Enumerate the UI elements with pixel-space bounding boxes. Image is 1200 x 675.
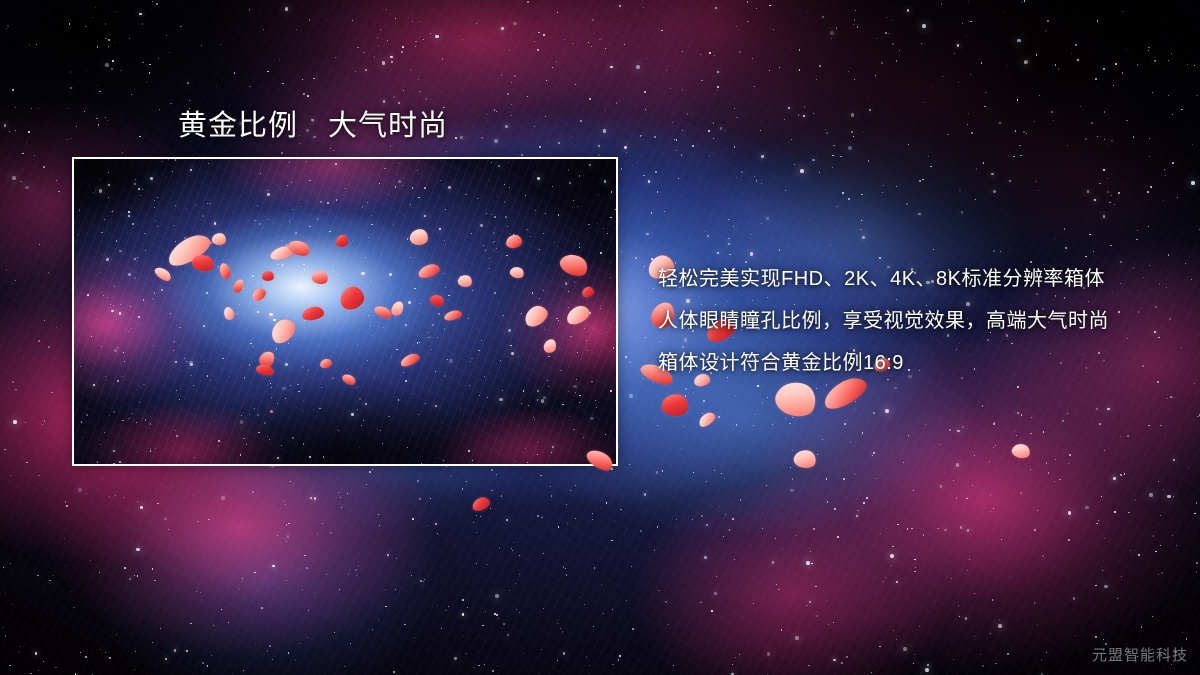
body-copy: 轻松完美实现FHD、2K、4K、8K标准分辨率箱体 人体眼睛瞳孔比例，享受视觉效… (658, 258, 1136, 384)
petal (696, 410, 717, 429)
body-line-3: 箱体设计符合黄金比例16:9 (658, 342, 1136, 384)
panel-image (74, 159, 616, 464)
petal (792, 448, 818, 471)
slide-canvas: 黄金比例 大气时尚 轻松完美实现FHD、2K、4K、8K标准分辨率箱体 人体眼睛… (0, 0, 1200, 675)
petal (1010, 442, 1031, 461)
framed-preview-panel[interactable] (72, 157, 618, 466)
watermark: 元盟智能科技 (1092, 644, 1188, 665)
body-line-2: 人体眼睛瞳孔比例，享受视觉效果，高端大气时尚 (658, 300, 1136, 342)
body-line-1: 轻松完美实现FHD、2K、4K、8K标准分辨率箱体 (658, 258, 1136, 300)
petal (660, 392, 690, 419)
petal (470, 495, 491, 512)
page-title: 黄金比例 大气时尚 (178, 102, 448, 144)
petal (336, 235, 348, 247)
